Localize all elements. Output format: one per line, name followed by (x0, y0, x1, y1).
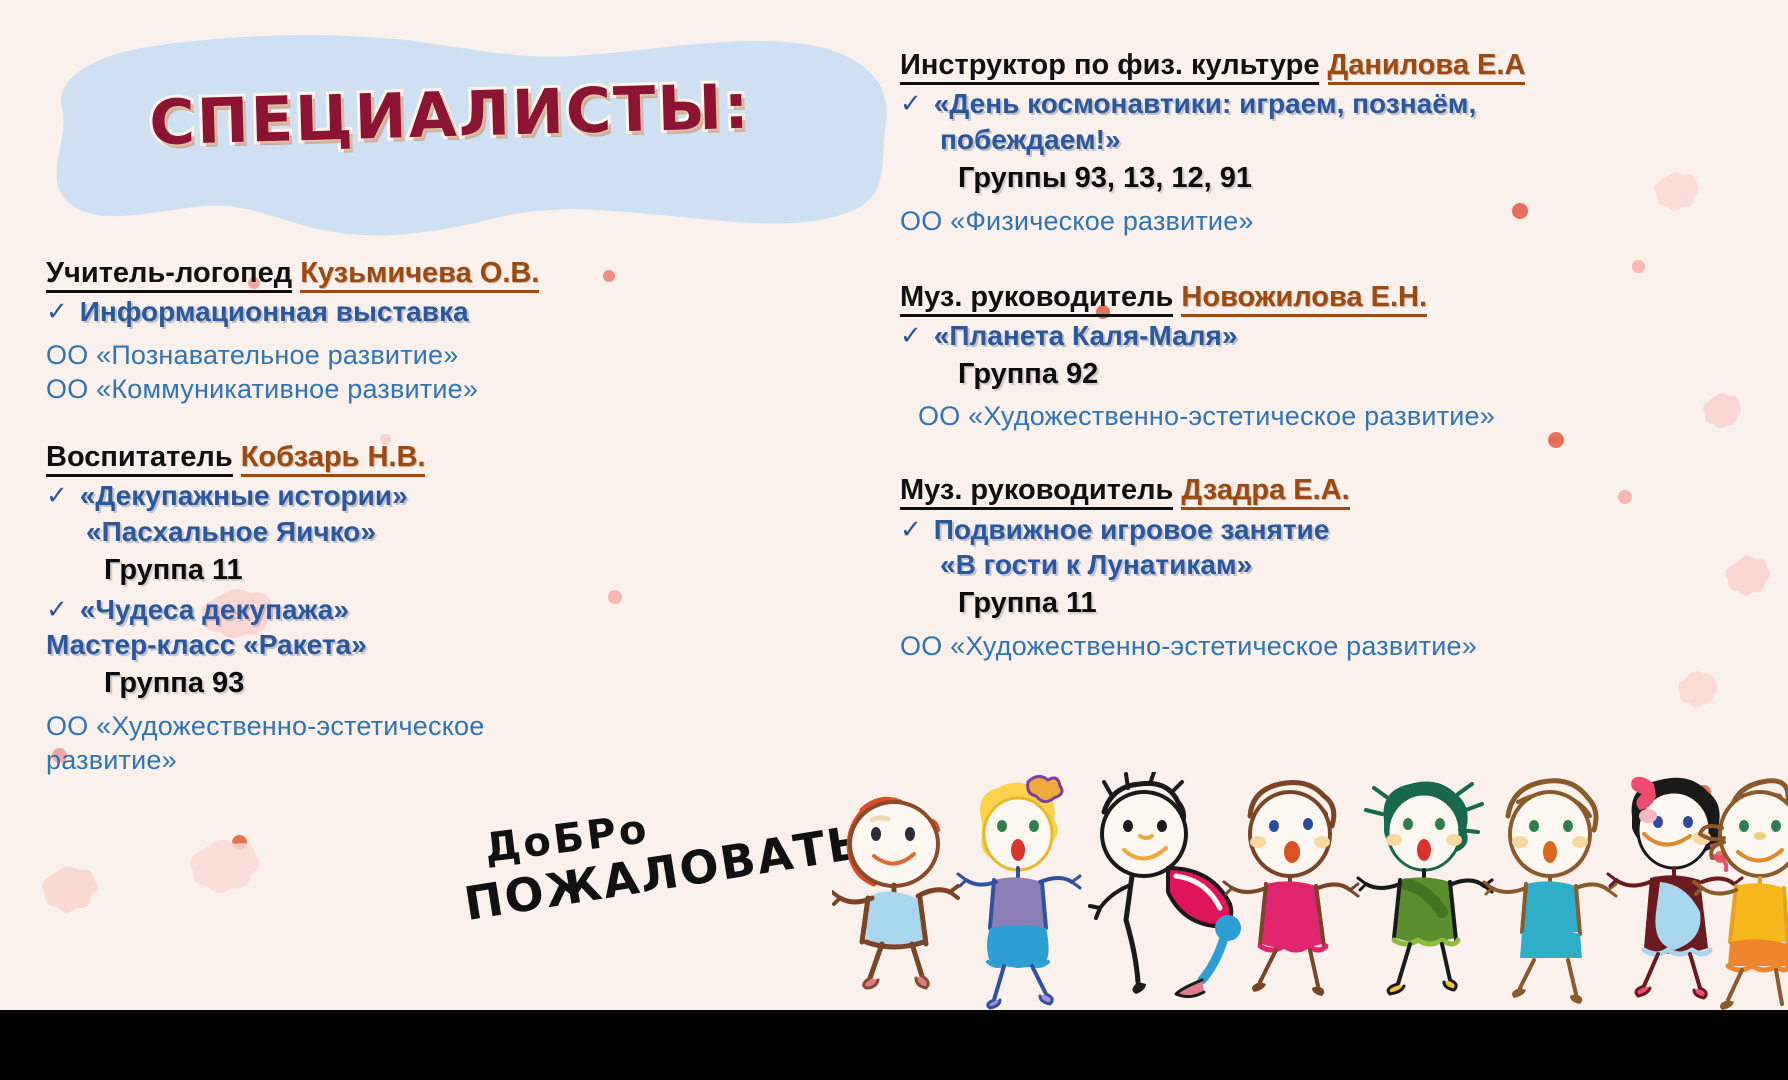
activity-continuation: «Пасхальное Яичко» (86, 514, 806, 550)
right-column: Инструктор по физ. культуре Данилова Е.А… (900, 48, 1770, 681)
specialist-block: Инструктор по физ. культуре Данилова Е.А… (900, 48, 1770, 238)
child-6 (1484, 781, 1616, 1004)
specialist-role: Инструктор по физ. культуре (900, 49, 1319, 85)
specialist-role: Воспитатель (46, 441, 233, 477)
activity-text: «Чудеса декупажа» (80, 592, 806, 628)
group-line: Группы 93, 13, 12, 91 (958, 160, 1770, 198)
specialist-role: Муз. руководитель (900, 281, 1173, 317)
child-2 (958, 776, 1080, 1008)
oo-line: ОО «Художественно-эстетическое (46, 709, 806, 743)
oo-line: ОО «Художественно-эстетическое развитие» (900, 629, 1770, 663)
specialist-heading: Воспитатель Кобзарь Н.В. (46, 440, 806, 474)
blossom-shape (38, 862, 102, 918)
activity-text: «Декупажные истории» (80, 478, 806, 514)
specialist-block: Муз. руководитель Новожилова Е.Н. ✓ «Пла… (900, 280, 1770, 434)
child-4 (1224, 783, 1358, 997)
oo-line: ОО «Физическое развитие» (900, 204, 1770, 238)
group-line: Группа 92 (958, 356, 1770, 394)
check-icon: ✓ (46, 478, 68, 513)
specialist-heading: Инструктор по физ. культуре Данилова Е.А (900, 48, 1770, 82)
child-3 (1090, 772, 1241, 997)
specialist-name: Данилова Е.А (1328, 49, 1526, 85)
activity-line: ✓ Подвижное игровое занятие (900, 512, 1770, 548)
specialist-name: Кузьмичева О.В. (300, 257, 539, 293)
specialist-block: Муз. руководитель Дзадра Е.А. ✓ Подвижно… (900, 473, 1770, 663)
specialist-name: Кобзарь Н.В. (241, 441, 426, 477)
left-column: Учитель-логопед Кузьмичева О.В. ✓ Информ… (46, 256, 806, 795)
activity-line: ✓ «Планета Каля-Маля» (900, 318, 1770, 354)
specialist-role: Муз. руководитель (900, 474, 1173, 510)
activity-text: Подвижное игровое занятие (934, 512, 1770, 548)
specialist-name: Новожилова Е.Н. (1181, 281, 1427, 317)
group-line: Группа 11 (958, 585, 1770, 623)
activity-line: ✓ «Декупажные истории» (46, 478, 806, 514)
check-icon: ✓ (900, 512, 922, 547)
activity-text: Информационная выставка (80, 294, 806, 330)
activity-continuation: «В гости к Лунатикам» (940, 547, 1770, 583)
confetti-dot (232, 835, 247, 850)
activity-continuation: Мастер-класс «Ракета» (46, 627, 806, 663)
activity-text: «День космонавтики: играем, познаём, (934, 86, 1770, 122)
specialist-block: Учитель-логопед Кузьмичева О.В. ✓ Информ… (46, 256, 806, 406)
check-icon: ✓ (900, 86, 922, 121)
specialist-heading: Учитель-логопед Кузьмичева О.В. (46, 256, 806, 290)
group-line: Группа 11 (104, 552, 806, 590)
activity-text: «Планета Каля-Маля» (934, 318, 1770, 354)
oo-line: развитие» (46, 743, 806, 777)
activity-line: ✓ «День космонавтики: играем, познаём, (900, 86, 1770, 122)
children-illustration (832, 772, 1788, 1012)
specialist-role: Учитель-логопед (46, 257, 292, 293)
child-5 (1358, 782, 1492, 994)
oo-line: ОО «Познавательное развитие» (46, 338, 806, 372)
activity-continuation: побеждаем!» (940, 122, 1770, 158)
activity-line: ✓ «Чудеса декупажа» (46, 592, 806, 628)
specialist-block: Воспитатель Кобзарь Н.В. ✓ «Декупажные и… (46, 440, 806, 777)
check-icon: ✓ (900, 318, 922, 353)
group-line: Группа 93 (104, 665, 806, 703)
bottom-black-bar (0, 1010, 1788, 1080)
specialist-heading: Муз. руководитель Новожилова Е.Н. (900, 280, 1770, 314)
activity-line: ✓ Информационная выставка (46, 294, 806, 330)
oo-line: ОО «Художественно-эстетическое развитие» (918, 399, 1770, 433)
check-icon: ✓ (46, 294, 68, 329)
blossom-shape (185, 835, 265, 899)
specialist-name: Дзадра Е.А. (1181, 474, 1349, 510)
check-icon: ✓ (46, 592, 68, 627)
specialist-heading: Муз. руководитель Дзадра Е.А. (900, 473, 1770, 507)
child-7 (1608, 777, 1742, 998)
child-1 (832, 799, 958, 988)
oo-line: ОО «Коммуникативное развитие» (46, 372, 806, 406)
